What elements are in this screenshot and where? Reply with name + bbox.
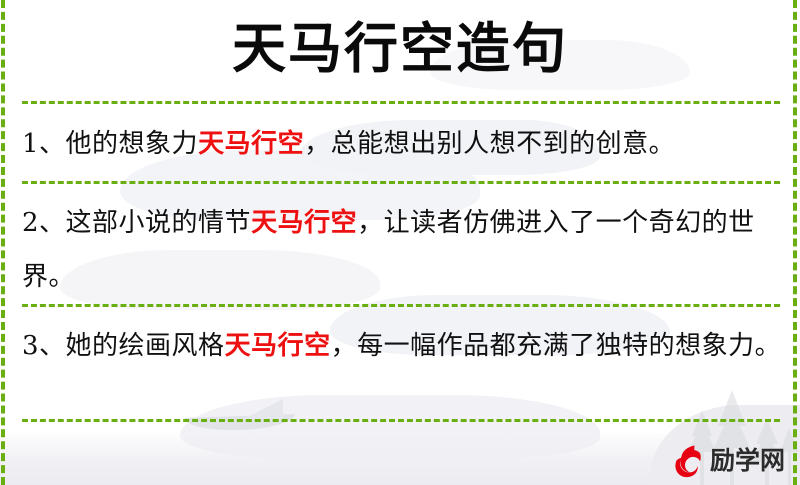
- divider-rule-4: [22, 419, 780, 422]
- sentence-text-before-2: 这部小说的情节: [66, 208, 252, 238]
- flame-swirl-icon: [668, 442, 706, 480]
- site-logo-text: 励学网: [710, 442, 785, 480]
- page-title: 天马行空造句: [0, 11, 800, 85]
- divider-rule-2: [22, 181, 780, 184]
- keyword-highlight-1: 天马行空: [198, 129, 304, 159]
- divider-rule-3: [22, 304, 780, 307]
- sentence-text-after-3: ，每一幅作品都充满了独特的想象力。: [331, 331, 782, 361]
- keyword-highlight-2: 天马行空: [251, 208, 357, 238]
- example-sentence-3: 3、她的绘画风格天马行空，每一幅作品都充满了独特的想象力。: [22, 319, 784, 373]
- watermark-sail: [243, 399, 283, 419]
- page-root: 天马行空造句 1、他的想象力天马行空，总能想出别人想不到的创意。 2、这部小说的…: [0, 0, 800, 485]
- sentence-text-before-3: 她的绘画风格: [66, 331, 225, 361]
- sentence-text-after-1: ，总能想出别人想不到的创意。: [304, 129, 675, 159]
- divider-rule-1: [22, 101, 780, 104]
- sentence-number-1: 1、: [22, 129, 66, 159]
- site-logo: 励学网: [668, 441, 785, 481]
- example-sentence-2: 2、这部小说的情节天马行空，让读者仿佛进入了一个奇幻的世界。: [22, 196, 784, 304]
- sentence-text-before-1: 他的想象力: [66, 129, 199, 159]
- watermark-boat: [185, 414, 295, 432]
- keyword-highlight-3: 天马行空: [225, 331, 331, 361]
- example-sentence-1: 1、他的想象力天马行空，总能想出别人想不到的创意。: [22, 117, 784, 171]
- sentence-number-2: 2、: [22, 208, 66, 238]
- sentence-number-3: 3、: [22, 331, 66, 361]
- watermark-cloud: [180, 395, 600, 460]
